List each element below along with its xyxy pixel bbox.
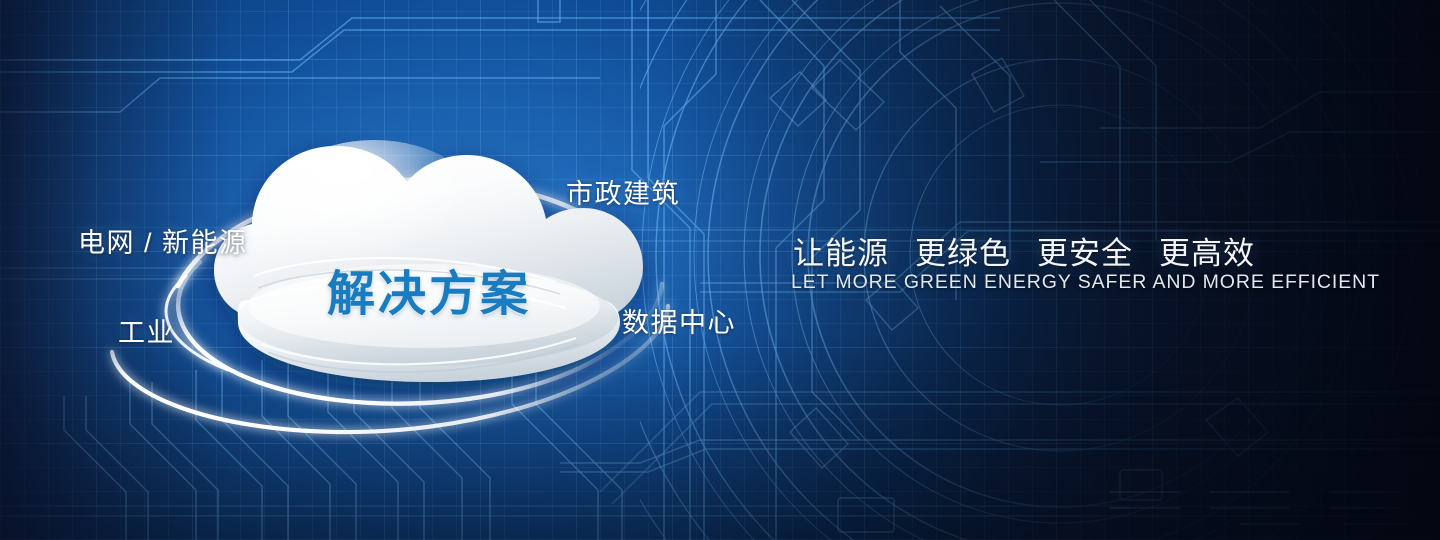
label-grid-new-energy: 电网 / 新能源 bbox=[78, 221, 248, 260]
label-civic-building: 市政建筑 bbox=[566, 172, 680, 211]
label-industry: 工业 bbox=[118, 311, 175, 350]
cloud-solution-title: 解决方案 bbox=[327, 254, 531, 324]
tagline-segment: 更高效 bbox=[1159, 236, 1255, 271]
tagline-chinese: 让能源更绿色更安全更高效 bbox=[793, 228, 1255, 273]
tagline-english: LET MORE GREEN ENERGY SAFER AND MORE EFF… bbox=[791, 271, 1380, 294]
tagline-segment: 更安全 bbox=[1037, 236, 1133, 271]
tagline-segment: 让能源 bbox=[793, 236, 889, 271]
solution-banner: 电网 / 新能源 工业 市政建筑 数据中心 解决方案 让能源更绿色更安全更高效 … bbox=[0, 0, 1440, 540]
label-data-center: 数据中心 bbox=[622, 301, 736, 340]
tagline-segment: 更绿色 bbox=[915, 236, 1011, 271]
